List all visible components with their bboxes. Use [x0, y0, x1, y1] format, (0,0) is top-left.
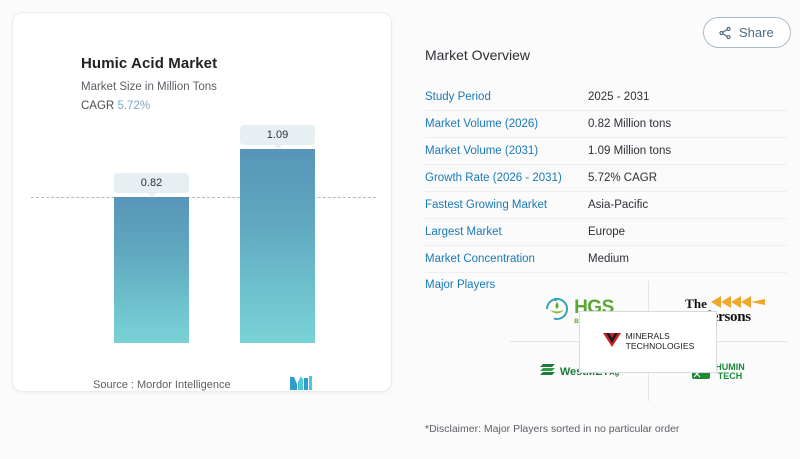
market-overview-title: Market Overview [425, 47, 530, 63]
row-key: Study Period [425, 91, 588, 103]
row-value: Europe [588, 226, 625, 238]
market-overview-table: Study Period 2025 - 2031 Market Volume (… [425, 84, 787, 300]
row-key: Market Volume (2026) [425, 118, 588, 130]
share-network-icon [718, 26, 732, 40]
row-key: Growth Rate (2026 - 2031) [425, 172, 588, 184]
player-logo-minerals-technologies: MINERALS TECHNOLOGIES [579, 311, 717, 373]
bar-value-label-2026: 0.82 [114, 173, 189, 193]
market-snapshot-page: Share Humic Acid Market Market Size in M… [0, 0, 800, 459]
table-row: Fastest Growing Market Asia-Pacific [425, 192, 787, 219]
table-row: Market Concentration Medium [425, 246, 787, 273]
chart-cagr: CAGR 5.72% [81, 100, 150, 112]
cagr-value: 5.72% [117, 100, 150, 112]
chart-subtitle: Market Size in Million Tons [81, 81, 217, 93]
row-key: Market Volume (2031) [425, 145, 588, 157]
hgs-leaf-icon [544, 296, 570, 327]
row-key: Fastest Growing Market [425, 199, 588, 211]
row-value: Asia-Pacific [588, 199, 648, 211]
row-value: Medium [588, 253, 629, 265]
table-row: Market Volume (2031) 1.09 Million tons [425, 138, 787, 165]
table-row: Largest Market Europe [425, 219, 787, 246]
cagr-label: CAGR [81, 100, 114, 112]
mordor-intelligence-logo [290, 375, 312, 396]
minerals-line2: TECHNOLOGIES [626, 342, 695, 352]
reference-line [31, 197, 376, 198]
bar-2026[interactable] [114, 197, 189, 343]
westmet-stripes-icon [539, 362, 556, 382]
table-row: Growth Rate (2026 - 2031) 5.72% CAGR [425, 165, 787, 192]
andersons-wheat-icon [709, 295, 767, 315]
table-row: Market Volume (2026) 0.82 Million tons [425, 111, 787, 138]
table-row: Study Period 2025 - 2031 [425, 84, 787, 111]
chart-card: Humic Acid Market Market Size in Million… [12, 12, 392, 392]
major-players-logo-grid: HGS BioScience® The Andersons [510, 281, 787, 401]
share-button-label: Share [739, 25, 774, 40]
row-value: 2025 - 2031 [588, 91, 649, 103]
row-key: Market Concentration [425, 253, 588, 265]
chart-title: Humic Acid Market [81, 55, 217, 72]
row-value: 0.82 Million tons [588, 118, 671, 130]
disclaimer-text: *Disclaimer: Major Players sorted in no … [425, 423, 679, 435]
bar-value-label-2031: 1.09 [240, 125, 315, 145]
share-button[interactable]: Share [703, 17, 791, 48]
row-value: 1.09 Million tons [588, 145, 671, 157]
minerals-technologies-mark-icon [602, 331, 622, 354]
bar-2031[interactable] [240, 149, 315, 343]
row-value: 5.72% CAGR [588, 172, 657, 184]
row-key: Largest Market [425, 226, 588, 238]
source-text: Source : Mordor Intelligence [93, 379, 231, 391]
bar-chart-plot: 0.82 1.09 2026 2031 [13, 123, 393, 343]
humintech-line2: TECH [715, 372, 745, 381]
